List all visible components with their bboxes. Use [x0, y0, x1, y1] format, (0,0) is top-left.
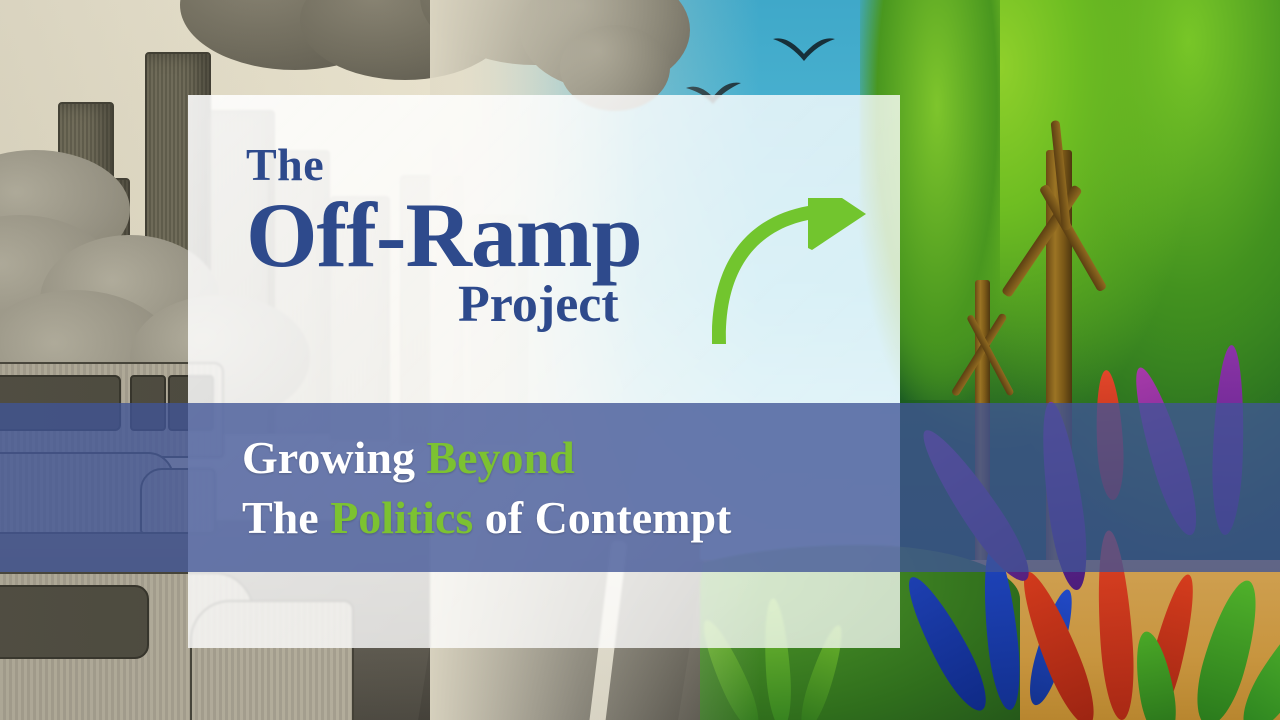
subtitle-line-1-plain: Growing — [242, 432, 426, 483]
curved-arrow-up-right-icon — [712, 198, 867, 348]
subtitle-line-1: Growing Beyond — [242, 428, 900, 488]
subtitle-line-1-accent: Beyond — [426, 432, 574, 483]
subtitle-line-2-plain-b: of Contempt — [473, 492, 731, 543]
poster-canvas: The Off-Ramp Project Growing Beyond The … — [0, 0, 1280, 720]
subtitle-text-wrapper: Growing Beyond The Politics of Contempt — [188, 403, 900, 572]
bird-icon — [771, 33, 837, 63]
vehicle-window — [0, 585, 149, 659]
subtitle-line-2: The Politics of Contempt — [242, 488, 900, 548]
title-the: The — [246, 143, 900, 187]
subtitle-line-2-accent: Politics — [330, 492, 473, 543]
subtitle-line-2-plain-a: The — [242, 492, 330, 543]
